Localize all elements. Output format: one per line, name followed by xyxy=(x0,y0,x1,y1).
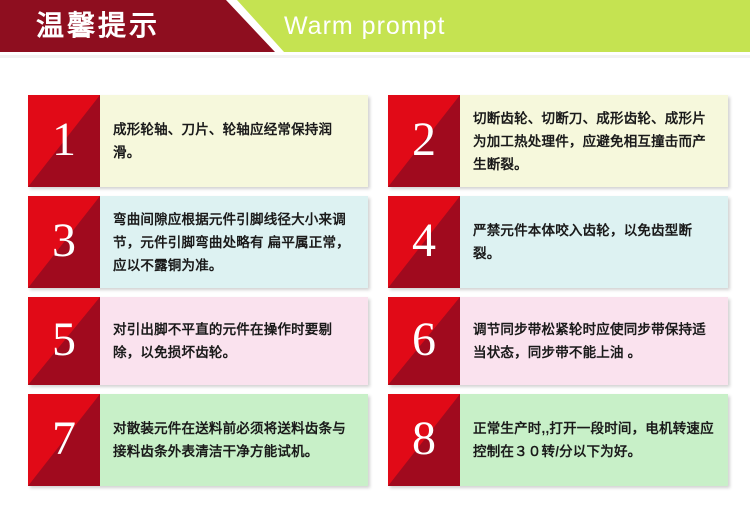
tips-row-4: 7 对散装元件在送料前必须将送料齿条与接料齿条外表清洁干净方能试机。 8 正常生… xyxy=(28,394,728,486)
tip-card-2: 2 切断齿轮、切断刀、成形齿轮、成形片为加工热处理件，应避免相互撞击而产生断裂。 xyxy=(388,95,728,187)
tip-number-7: 7 xyxy=(28,394,100,486)
tip-card-1: 1 成形轮轴、刀片、轮轴应经常保持润滑。 xyxy=(28,95,368,187)
tip-number-badge-2: 2 xyxy=(388,95,460,187)
tip-text-5: 对引出脚不平直的元件在操作时要剔除，以免损坏齿轮。 xyxy=(100,297,368,385)
tips-row-2: 3 弯曲间隙应根据元件引脚线径大小来调节，元件引脚弯曲处略有 扁平属正常，应以不… xyxy=(28,196,728,288)
tip-text-4: 严禁元件本体咬入齿轮，以免齿型断裂。 xyxy=(460,196,728,288)
tip-number-badge-5: 5 xyxy=(28,297,100,385)
tip-text-6: 调节同步带松紧轮时应使同步带保持适当状态，同步带不能上油 。 xyxy=(460,297,728,385)
tip-card-3: 3 弯曲间隙应根据元件引脚线径大小来调节，元件引脚弯曲处略有 扁平属正常，应以不… xyxy=(28,196,368,288)
tip-number-badge-8: 8 xyxy=(388,394,460,486)
tip-number-1: 1 xyxy=(28,95,100,187)
tip-card-8: 8 正常生产时,,打开一段时间，电机转速应控制在３０转/分以下为好。 xyxy=(388,394,728,486)
tip-number-badge-6: 6 xyxy=(388,297,460,385)
tip-text-7: 对散装元件在送料前必须将送料齿条与接料齿条外表清洁干净方能试机。 xyxy=(100,394,368,486)
tip-text-1: 成形轮轴、刀片、轮轴应经常保持润滑。 xyxy=(100,95,368,187)
tip-number-4: 4 xyxy=(388,196,460,288)
tip-number-2: 2 xyxy=(388,95,460,187)
tips-row-3: 5 对引出脚不平直的元件在操作时要剔除，以免损坏齿轮。 6 调节同步带松紧轮时应… xyxy=(28,297,728,385)
header-title-chinese: 温馨提示 xyxy=(36,8,160,44)
tips-grid: 1 成形轮轴、刀片、轮轴应经常保持润滑。 2 切断齿轮、切断刀、成形齿轮、成形片… xyxy=(28,95,728,495)
tip-card-6: 6 调节同步带松紧轮时应使同步带保持适当状态，同步带不能上油 。 xyxy=(388,297,728,385)
tip-text-2: 切断齿轮、切断刀、成形齿轮、成形片为加工热处理件，应避免相互撞击而产生断裂。 xyxy=(460,95,728,187)
tip-card-4: 4 严禁元件本体咬入齿轮，以免齿型断裂。 xyxy=(388,196,728,288)
tip-text-8: 正常生产时,,打开一段时间，电机转速应控制在３０转/分以下为好。 xyxy=(460,394,728,486)
tip-number-6: 6 xyxy=(388,297,460,385)
tip-number-5: 5 xyxy=(28,297,100,385)
tip-number-badge-1: 1 xyxy=(28,95,100,187)
page-header: 温馨提示 Warm prompt xyxy=(0,0,750,58)
header-divider xyxy=(0,55,750,58)
tips-row-1: 1 成形轮轴、刀片、轮轴应经常保持润滑。 2 切断齿轮、切断刀、成形齿轮、成形片… xyxy=(28,95,728,187)
tip-number-badge-7: 7 xyxy=(28,394,100,486)
tip-number-badge-4: 4 xyxy=(388,196,460,288)
tip-number-8: 8 xyxy=(388,394,460,486)
tip-card-5: 5 对引出脚不平直的元件在操作时要剔除，以免损坏齿轮。 xyxy=(28,297,368,385)
tip-text-3: 弯曲间隙应根据元件引脚线径大小来调节，元件引脚弯曲处略有 扁平属正常，应以不露铜… xyxy=(100,196,368,288)
tip-card-7: 7 对散装元件在送料前必须将送料齿条与接料齿条外表清洁干净方能试机。 xyxy=(28,394,368,486)
tip-number-3: 3 xyxy=(28,196,100,288)
header-title-english: Warm prompt xyxy=(284,10,445,42)
tip-number-badge-3: 3 xyxy=(28,196,100,288)
